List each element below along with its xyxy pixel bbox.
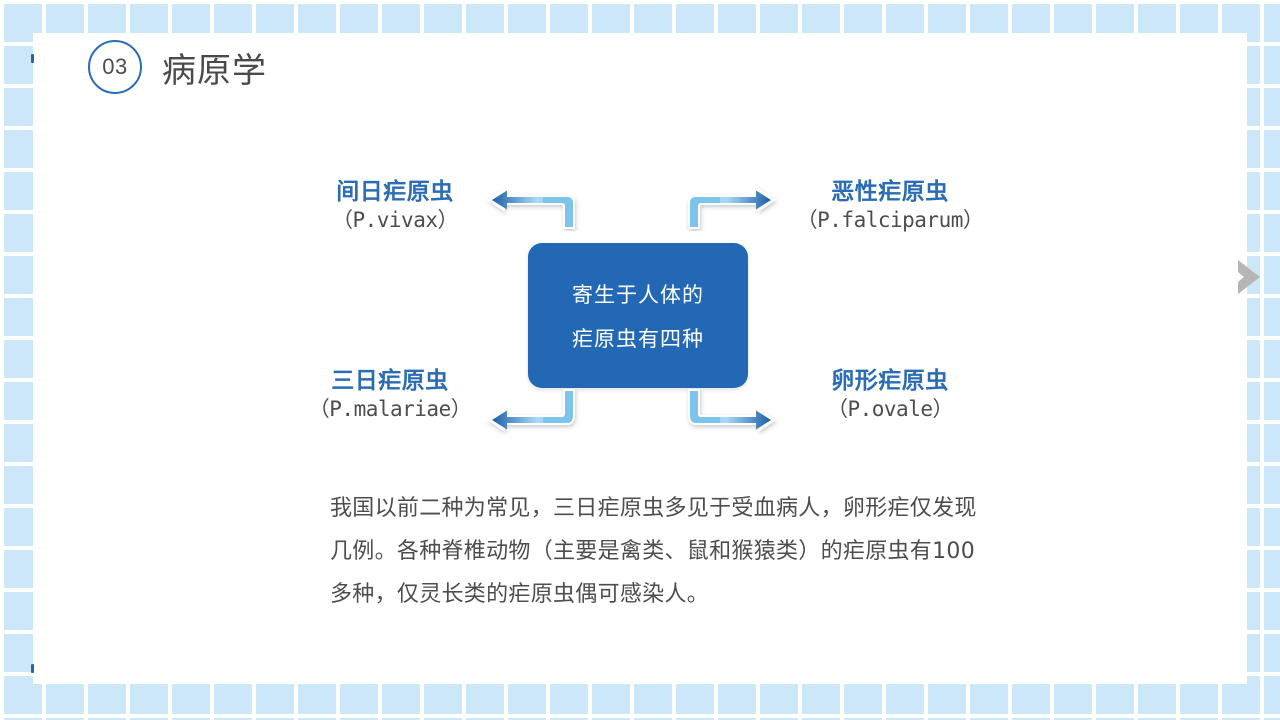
node-label-falciparum-latin: （P.falciparum） <box>790 208 990 234</box>
section-number-badge: 03 <box>88 40 142 94</box>
center-concept-box: 寄生于人体的 疟原虫有四种 <box>528 243 748 388</box>
node-label-malariae: 三日疟原虫 （P.malariae） <box>295 367 485 423</box>
arrow-right-bottom-icon <box>680 387 780 435</box>
node-label-falciparum-cn: 恶性疟原虫 <box>790 178 990 206</box>
left-edge-tick-top <box>31 54 34 63</box>
page-title: 病原学 <box>162 43 267 92</box>
arrow-left-bottom-icon <box>483 387 583 435</box>
node-label-vivax: 间日疟原虫 （P.vivax） <box>300 178 490 234</box>
slide-root: 03 病原学 间日疟原虫 （P.vivax） 恶性疟原虫 （P.falcipar… <box>0 0 1280 720</box>
node-label-ovale-latin: （P.ovale） <box>795 397 985 423</box>
slide-header: 03 病原学 <box>88 40 267 94</box>
left-edge-tick-bottom <box>31 664 34 673</box>
center-box-line-2: 疟原虫有四种 <box>572 323 704 353</box>
body-paragraph-text: 我国以前二种为常见，三日疟原虫多见于受血病人，卵形疟仅发现几例。各种脊椎动物（主… <box>330 487 990 616</box>
body-paragraph: 我国以前二种为常见，三日疟原虫多见于受血病人，卵形疟仅发现几例。各种脊椎动物（主… <box>330 487 990 616</box>
node-label-ovale-cn: 卵形疟原虫 <box>795 367 985 395</box>
node-label-vivax-cn: 间日疟原虫 <box>300 178 490 206</box>
center-box-line-1: 寄生于人体的 <box>572 279 704 309</box>
node-label-vivax-latin: （P.vivax） <box>300 208 490 234</box>
node-label-ovale: 卵形疟原虫 （P.ovale） <box>795 367 985 423</box>
node-label-malariae-latin: （P.malariae） <box>295 397 485 423</box>
node-label-malariae-cn: 三日疟原虫 <box>295 367 485 395</box>
next-slide-chevron-icon[interactable] <box>1238 256 1262 298</box>
node-label-falciparum: 恶性疟原虫 （P.falciparum） <box>790 178 990 234</box>
arrow-right-top-icon <box>680 183 780 231</box>
arrow-left-top-icon <box>483 183 583 231</box>
section-number-text: 03 <box>102 54 127 80</box>
